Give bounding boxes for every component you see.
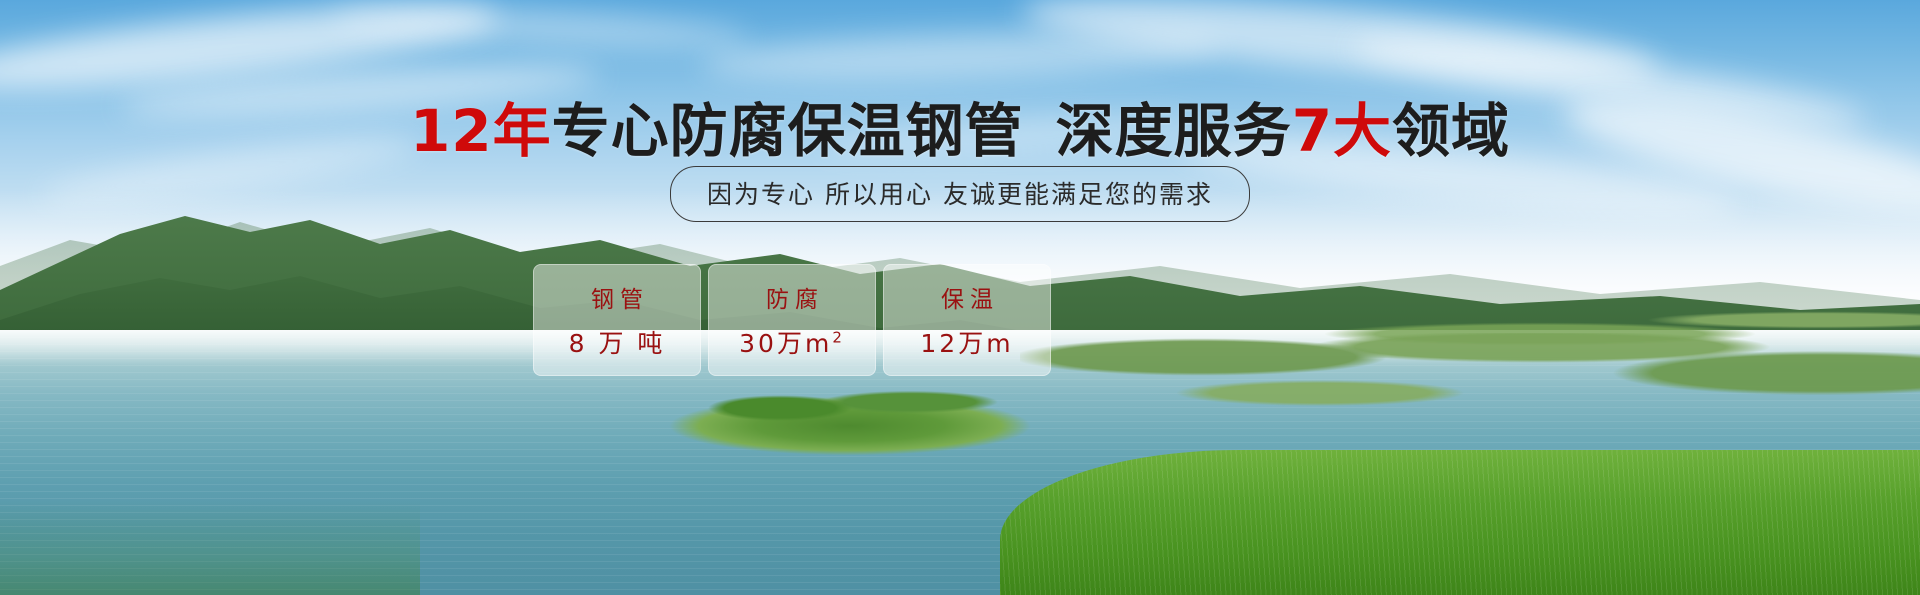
grass-texture	[1000, 450, 1920, 595]
stat-card-title: 钢管	[585, 280, 649, 314]
stat-card-value-main: 12万m	[920, 329, 1013, 358]
headline-segment-fields: 领域	[1392, 97, 1510, 165]
stat-card-value-main: 30万m	[739, 329, 832, 358]
stat-card-value-main: 8 万 吨	[569, 329, 666, 358]
stat-card-title: 保温	[935, 280, 999, 314]
island-grass-tuft	[700, 386, 1000, 426]
headline-segment-service: 深度服务	[1056, 97, 1292, 165]
stat-card-anticorrosion[interactable]: 防腐 30万m2	[708, 264, 876, 376]
left-shore-shadow	[0, 500, 420, 595]
promo-banner: 12年专心防腐保温钢管深度服务7大领域 因为专心 所以用心 友诚更能满足您的需求…	[0, 0, 1920, 595]
subtitle-pill: 因为专心 所以用心 友诚更能满足您的需求	[670, 166, 1250, 222]
stat-card-value: 8 万 吨	[569, 324, 666, 360]
stat-card-title: 防腐	[760, 280, 824, 314]
stat-card-value: 30万m2	[739, 324, 845, 360]
stat-card-insulation[interactable]: 保温 12万m	[883, 264, 1051, 376]
stat-card-group: 钢管 8 万 吨 防腐 30万m2 保温 12万m	[533, 264, 1051, 376]
stat-card-steel-pipe[interactable]: 钢管 8 万 吨	[533, 264, 701, 376]
banner-headline: 12年专心防腐保温钢管深度服务7大领域	[0, 84, 1920, 168]
headline-segment-focus: 专心防腐保温钢管	[552, 97, 1024, 165]
foreground-grass	[1000, 450, 1920, 595]
marsh-vegetation	[1020, 333, 1920, 453]
stat-card-value-superscript: 2	[832, 329, 845, 347]
headline-segment-years: 12年	[410, 97, 552, 165]
stat-card-value: 12万m	[920, 324, 1013, 360]
headline-segment-seven: 7大	[1292, 97, 1392, 165]
subtitle-container: 因为专心 所以用心 友诚更能满足您的需求	[0, 166, 1920, 222]
